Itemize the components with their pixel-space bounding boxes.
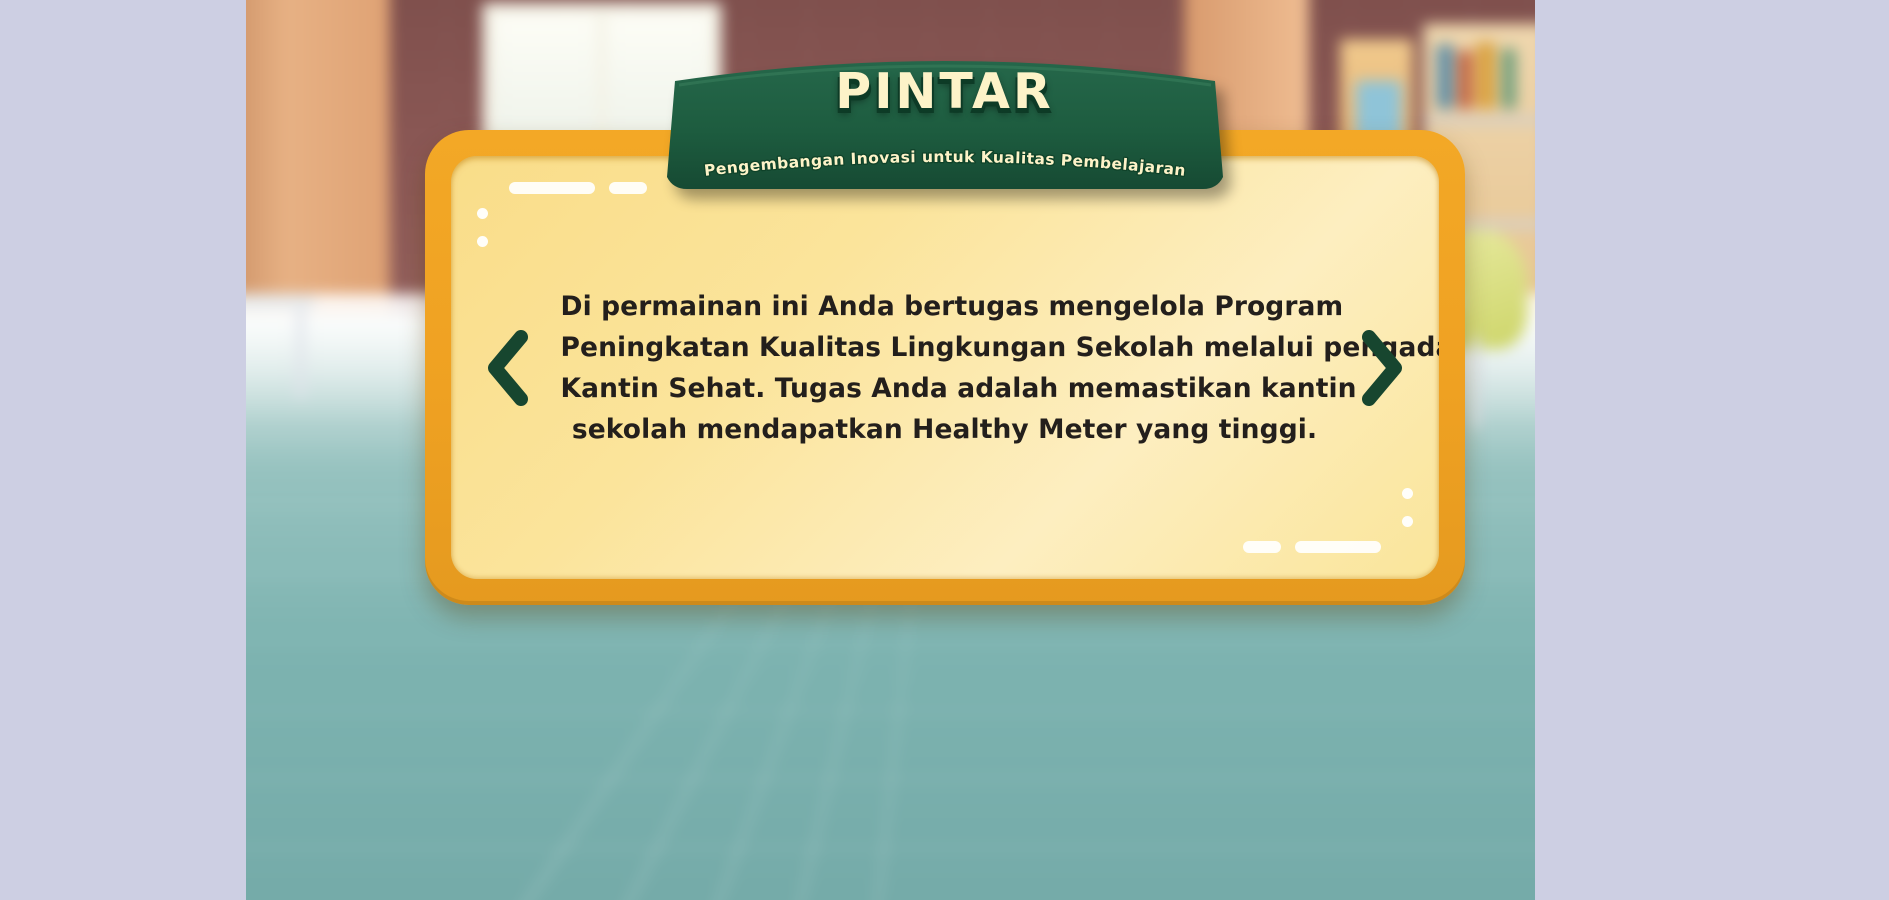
chair-leg — [1472, 336, 1479, 430]
brand-subtitle: Pengembangan Inovasi untuk Kualitas Pemb… — [703, 148, 1187, 180]
intro-text-line: Kantin Sehat. Tugas Anda adalah memastik… — [561, 368, 1329, 409]
decor-dash-bottom-right-1 — [1295, 541, 1381, 553]
brand-subtitle-wrap: Pengembangan Inovasi untuk Kualitas Pemb… — [657, 141, 1233, 189]
book — [1476, 42, 1495, 109]
brand-banner: PINTAR Pengembangan Inovasi untuk Kualit… — [657, 55, 1233, 195]
book — [1501, 49, 1516, 109]
letterbox-right — [1535, 0, 1889, 900]
book — [1458, 51, 1473, 109]
decor-dash-top-left-1 — [509, 182, 595, 194]
decor-dot-bottom-right-1 — [1402, 516, 1413, 527]
decor-dot-top-left-1 — [477, 208, 488, 219]
intro-text-line: sekolah mendapatkan Healthy Meter yang t… — [561, 409, 1329, 450]
next-chevron-icon[interactable] — [1355, 329, 1411, 407]
shelf-board — [1423, 115, 1548, 125]
intro-card-panel: Di permainan ini Anda bertugas mengelola… — [451, 156, 1439, 579]
decor-dash-top-left-2 — [609, 182, 647, 194]
decor-dot-bottom-right-2 — [1402, 488, 1413, 499]
intro-text-line: Di permainan ini Anda bertugas mengelola… — [561, 286, 1329, 327]
prev-chevron-icon[interactable] — [479, 329, 535, 407]
table-leg — [297, 306, 304, 400]
letterbox-left — [0, 0, 246, 900]
intro-text-block: Di permainan ini Anda bertugas mengelola… — [561, 286, 1329, 450]
decor-dash-bottom-right-2 — [1243, 541, 1281, 553]
book — [1437, 44, 1454, 108]
game-intro-screen: Di permainan ini Anda bertugas mengelola… — [0, 0, 1889, 900]
intro-text-line: Peningkatan Kualitas Lingkungan Sekolah … — [561, 327, 1329, 368]
decor-dot-top-left-2 — [477, 236, 488, 247]
